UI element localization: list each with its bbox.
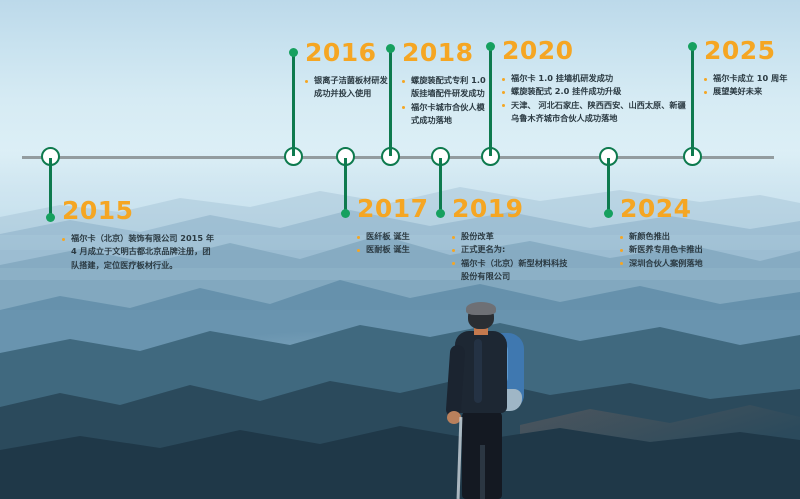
timeline-entry-2016[interactable]: 2016银离子洁菌板材研发成功并投入使用 (305, 40, 388, 101)
timeline-year-label: 2015 (62, 198, 214, 223)
timeline-year-label: 2017 (357, 196, 429, 221)
timeline-entry-2017[interactable]: 2017医纤板 诞生医耐板 诞生 (357, 196, 429, 257)
timeline-stem-2018 (389, 48, 392, 156)
timeline-bullet: 股份有限公司 (452, 270, 567, 283)
timeline-bullet-list: 新颜色推出新医养专用色卡推出深圳合伙人案例落地 (620, 230, 703, 270)
timeline-bullet: 天津、 河北石家庄、陕西西安、山西太原、新疆 (502, 99, 686, 112)
timeline-bullet: 深圳合伙人案例落地 (620, 257, 703, 270)
timeline-stem-cap-2015 (46, 213, 55, 222)
timeline-bullet: 式成功落地 (402, 114, 486, 127)
timeline-stem-2019 (439, 158, 442, 216)
timeline-entry-2020[interactable]: 2020福尔卡 1.0 挂墙机研发成功螺旋装配式 2.0 挂件成功升级天津、 河… (502, 38, 686, 125)
timeline-bullet-list: 福尔卡（北京）装饰有限公司 2015 年4 月成立于文明古都北京品牌注册，团队搭… (62, 232, 214, 272)
hiker-leg-gap (480, 445, 485, 499)
timeline-bullet: 版挂墙配件研发成功 (402, 87, 486, 100)
timeline-infographic: 2015福尔卡（北京）装饰有限公司 2015 年4 月成立于文明古都北京品牌注册… (0, 0, 800, 499)
timeline-year-label: 2025 (704, 38, 787, 63)
timeline-bullet-list: 股份改革正式更名为:福尔卡（北京）新型材料科技股份有限公司 (452, 230, 567, 283)
timeline-bullet-list: 银离子洁菌板材研发成功并投入使用 (305, 74, 388, 101)
hiker-figure (438, 305, 548, 499)
timeline-bullet-list: 福尔卡 1.0 挂墙机研发成功螺旋装配式 2.0 挂件成功升级天津、 河北石家庄… (502, 72, 686, 125)
timeline-bullet: 医纤板 诞生 (357, 230, 429, 243)
timeline-stem-2017 (344, 158, 347, 216)
timeline-stem-cap-2018 (386, 44, 395, 53)
timeline-entry-2015[interactable]: 2015福尔卡（北京）装饰有限公司 2015 年4 月成立于文明古都北京品牌注册… (62, 198, 214, 272)
timeline-bullet: 福尔卡成立 10 周年 (704, 72, 787, 85)
timeline-entry-2019[interactable]: 2019股份改革正式更名为:福尔卡（北京）新型材料科技股份有限公司 (452, 196, 567, 283)
backpack-strap (474, 339, 482, 403)
timeline-stem-cap-2017 (341, 209, 350, 218)
timeline-bullet: 股份改革 (452, 230, 567, 243)
timeline-bullet: 正式更名为: (452, 243, 567, 256)
timeline-stem-2024 (607, 158, 610, 216)
timeline-bullet: 展望美好未来 (704, 85, 787, 98)
timeline-stem-2015 (49, 158, 52, 220)
timeline-bullet: 医耐板 诞生 (357, 243, 429, 256)
timeline-stem-cap-2024 (604, 209, 613, 218)
timeline-bullet: 乌鲁木齐城市合伙人成功落地 (502, 112, 686, 125)
timeline-stem-cap-2019 (436, 209, 445, 218)
timeline-entry-2024[interactable]: 2024新颜色推出新医养专用色卡推出深圳合伙人案例落地 (620, 196, 703, 270)
timeline-bullet: 银离子洁菌板材研发 (305, 74, 388, 87)
hiker-hat (466, 302, 496, 315)
timeline-year-label: 2019 (452, 196, 567, 221)
timeline-bullet: 4 月成立于文明古都北京品牌注册，团 (62, 245, 214, 258)
timeline-bullet: 福尔卡城市合伙人模 (402, 101, 486, 114)
timeline-stem-2020 (489, 46, 492, 156)
timeline-bullet-list: 医纤板 诞生医耐板 诞生 (357, 230, 429, 257)
timeline-bullet: 福尔卡 1.0 挂墙机研发成功 (502, 72, 686, 85)
timeline-year-label: 2024 (620, 196, 703, 221)
timeline-bullet: 队搭建，定位医疗板材行业。 (62, 259, 214, 272)
timeline-year-label: 2016 (305, 40, 388, 65)
timeline-bullet: 新医养专用色卡推出 (620, 243, 703, 256)
timeline-stem-cap-2025 (688, 42, 697, 51)
timeline-bullet: 成功并投入使用 (305, 87, 388, 100)
timeline-entry-2025[interactable]: 2025福尔卡成立 10 周年展望美好未来 (704, 38, 787, 99)
timeline-bullet: 螺旋装配式专利 1.0 (402, 74, 486, 87)
timeline-bullet: 福尔卡（北京）新型材料科技 (452, 257, 567, 270)
timeline-stem-2025 (691, 46, 694, 156)
timeline-entry-2018[interactable]: 2018螺旋装配式专利 1.0版挂墙配件研发成功福尔卡城市合伙人模式成功落地 (402, 40, 486, 127)
timeline-stem-cap-2020 (486, 42, 495, 51)
timeline-bullet: 螺旋装配式 2.0 挂件成功升级 (502, 85, 686, 98)
timeline-bullet-list: 螺旋装配式专利 1.0版挂墙配件研发成功福尔卡城市合伙人模式成功落地 (402, 74, 486, 127)
timeline-year-label: 2020 (502, 38, 686, 63)
timeline-stem-cap-2016 (289, 48, 298, 57)
timeline-stem-2016 (292, 52, 295, 156)
timeline-year-label: 2018 (402, 40, 486, 65)
timeline-bullet: 新颜色推出 (620, 230, 703, 243)
timeline-bullet-list: 福尔卡成立 10 周年展望美好未来 (704, 72, 787, 99)
timeline-bullet: 福尔卡（北京）装饰有限公司 2015 年 (62, 232, 214, 245)
